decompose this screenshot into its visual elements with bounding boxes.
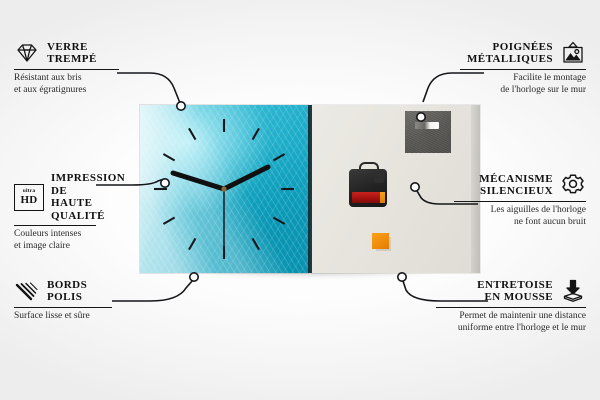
callout-rule — [460, 69, 586, 70]
callout-title: POIGNÉESMÉTALLIQUES — [467, 41, 553, 66]
callout-rule — [436, 307, 586, 308]
infographic-canvas: VERRETREMPÉ Résistant aux bris et aux ég… — [0, 0, 600, 400]
callout-rule — [14, 307, 112, 308]
callout-description: Facilite le montage de l'horloge sur le … — [460, 73, 586, 96]
callout-title: ENTRETOISEEN MOUSSE — [477, 279, 553, 304]
callout-description: Les aiguilles de l'horloge ne font aucun… — [454, 205, 586, 228]
mechanism-notch — [374, 171, 384, 183]
clock-hand-minute — [224, 167, 268, 189]
foam-spacer — [372, 233, 389, 249]
callout-impression-haute-qualite: ultra HD IMPRESSION DEHAUTE QUALITÉ Coul… — [14, 172, 144, 252]
callout-title: MÉCANISMESILENCIEUX — [479, 173, 553, 198]
callout-poignees-metalliques: POIGNÉESMÉTALLIQUES Facilite le montage … — [460, 40, 586, 96]
callout-rule — [14, 225, 96, 226]
ultra-hd-icon-main: HD — [20, 195, 37, 206]
callout-rule — [454, 201, 586, 202]
callout-title: IMPRESSION DEHAUTE QUALITÉ — [51, 172, 144, 222]
callout-description: Permet de maintenir une distance uniform… — [436, 311, 586, 334]
callout-bords-polis: BORDSPOLIS Surface lisse et sûre — [14, 278, 134, 323]
callout-description: Surface lisse et sûre — [14, 311, 134, 323]
callout-header: BORDSPOLIS — [14, 278, 134, 304]
polished-edges-icon — [14, 278, 40, 304]
callout-header: VERRETREMPÉ — [14, 40, 132, 66]
clock-dial — [140, 105, 308, 273]
callout-title: VERRETREMPÉ — [47, 41, 97, 66]
diamond-icon — [14, 40, 40, 66]
callout-header: POIGNÉESMÉTALLIQUES — [460, 40, 586, 66]
product-image — [140, 105, 480, 275]
callout-verre-trempe: VERRETREMPÉ Résistant aux bris et aux ég… — [14, 40, 132, 96]
front-glass-panel — [140, 105, 308, 273]
ultra-hd-icon: ultra HD — [14, 184, 44, 211]
callout-description: Couleurs intenses et image claire — [14, 229, 144, 252]
press-down-icon — [560, 278, 586, 304]
clock-hand-hour — [173, 173, 224, 189]
callout-rule — [14, 69, 119, 70]
callout-header: ultra HD IMPRESSION DEHAUTE QUALITÉ — [14, 172, 144, 222]
hanger-plate — [405, 111, 451, 153]
callout-mecanisme-silencieux: MÉCANISMESILENCIEUX Les aiguilles de l'h… — [454, 172, 586, 228]
gear-icon — [560, 172, 586, 198]
hanger-slot — [415, 122, 439, 129]
callout-entretoise-en-mousse: ENTRETOISEEN MOUSSE Permet de maintenir … — [436, 278, 586, 334]
callout-header: MÉCANISMESILENCIEUX — [454, 172, 586, 198]
clock-center-cap — [221, 186, 226, 191]
picture-frame-icon — [560, 40, 586, 66]
callout-header: ENTRETOISEEN MOUSSE — [436, 278, 586, 304]
callout-title: BORDSPOLIS — [47, 279, 87, 304]
battery-terminal — [380, 192, 385, 203]
callout-description: Résistant aux bris et aux égratignures — [14, 73, 132, 96]
